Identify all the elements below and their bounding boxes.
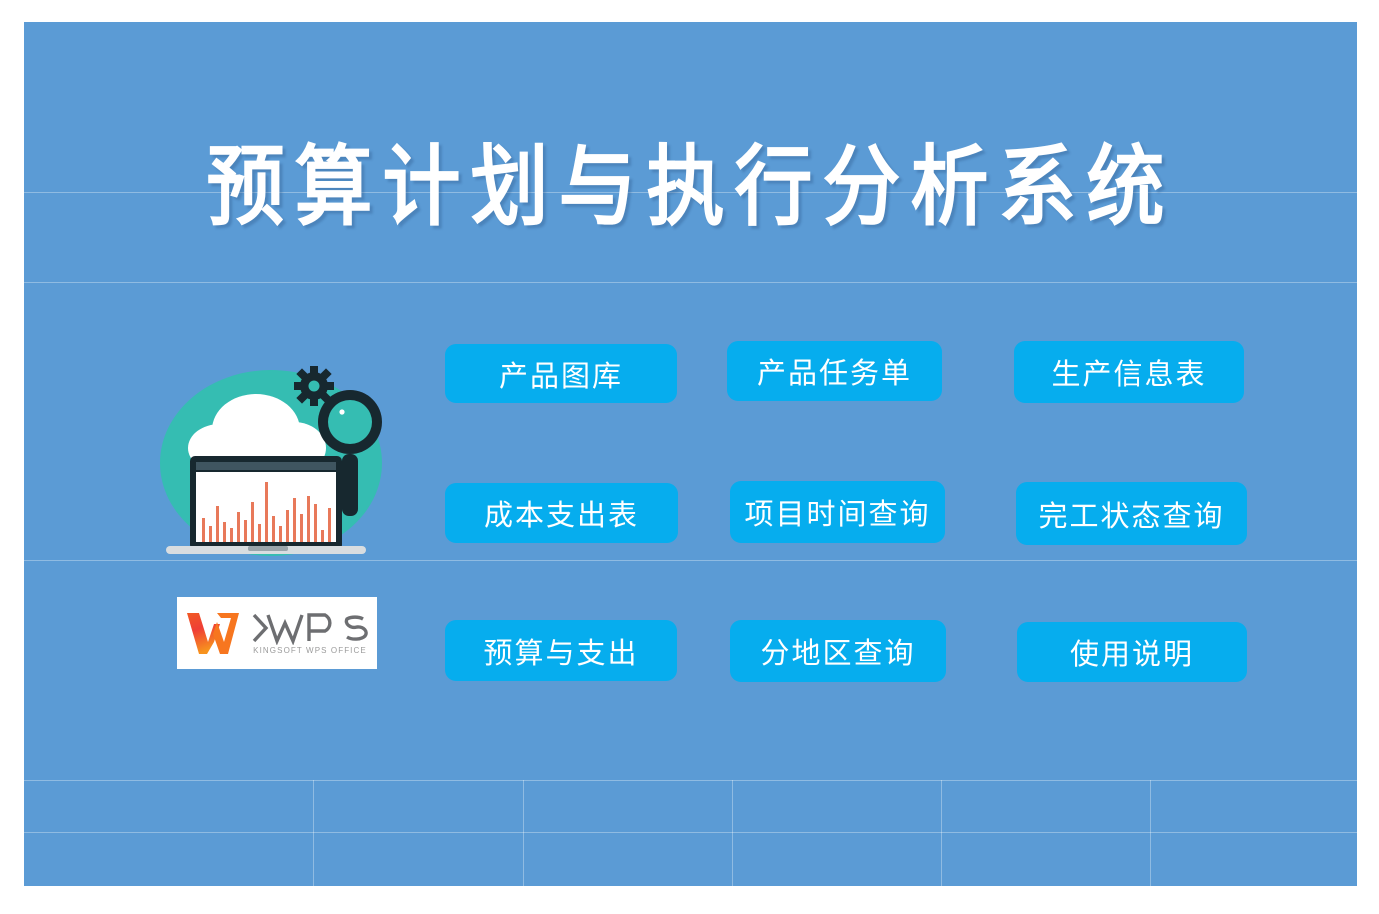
gridline-horizontal <box>24 282 1357 283</box>
menu-button-production-info-sheet[interactable]: 生产信息表 <box>1014 341 1244 403</box>
wps-logo-subtitle: KINGSOFT WPS OFFICE <box>253 646 367 655</box>
gridline-horizontal <box>24 780 1357 781</box>
menu-button-cost-expenditure-sheet[interactable]: 成本支出表 <box>445 483 678 543</box>
illustration-svg <box>152 360 398 564</box>
laptop-icon <box>166 456 366 554</box>
page-title: 预算计划与执行分析系统 <box>24 134 1357 242</box>
gridline-vertical <box>313 780 314 886</box>
slide-sheet: 预算计划与执行分析系统 <box>24 22 1357 886</box>
wps-wordmark-icon <box>251 611 369 645</box>
data-analysis-illustration <box>152 360 398 564</box>
menu-button-region-query[interactable]: 分地区查询 <box>730 620 946 682</box>
wps-w-mark-icon <box>183 608 245 658</box>
menu-button-budget-and-expenditure[interactable]: 预算与支出 <box>445 620 677 681</box>
wps-logo: KINGSOFT WPS OFFICE <box>177 597 377 669</box>
menu-button-completion-status-query[interactable]: 完工状态查询 <box>1016 482 1247 545</box>
gridline-vertical <box>1150 780 1151 886</box>
gridline-horizontal <box>24 832 1357 833</box>
slide-canvas: 预算计划与执行分析系统 <box>0 0 1379 914</box>
gridline-vertical <box>732 780 733 886</box>
gridline-vertical <box>523 780 524 886</box>
menu-button-project-time-query[interactable]: 项目时间查询 <box>730 481 945 543</box>
menu-button-product-gallery[interactable]: 产品图库 <box>445 344 677 403</box>
gridline-vertical <box>941 780 942 886</box>
menu-button-product-task-order[interactable]: 产品任务单 <box>727 341 942 401</box>
menu-button-usage-instructions[interactable]: 使用说明 <box>1017 622 1247 682</box>
